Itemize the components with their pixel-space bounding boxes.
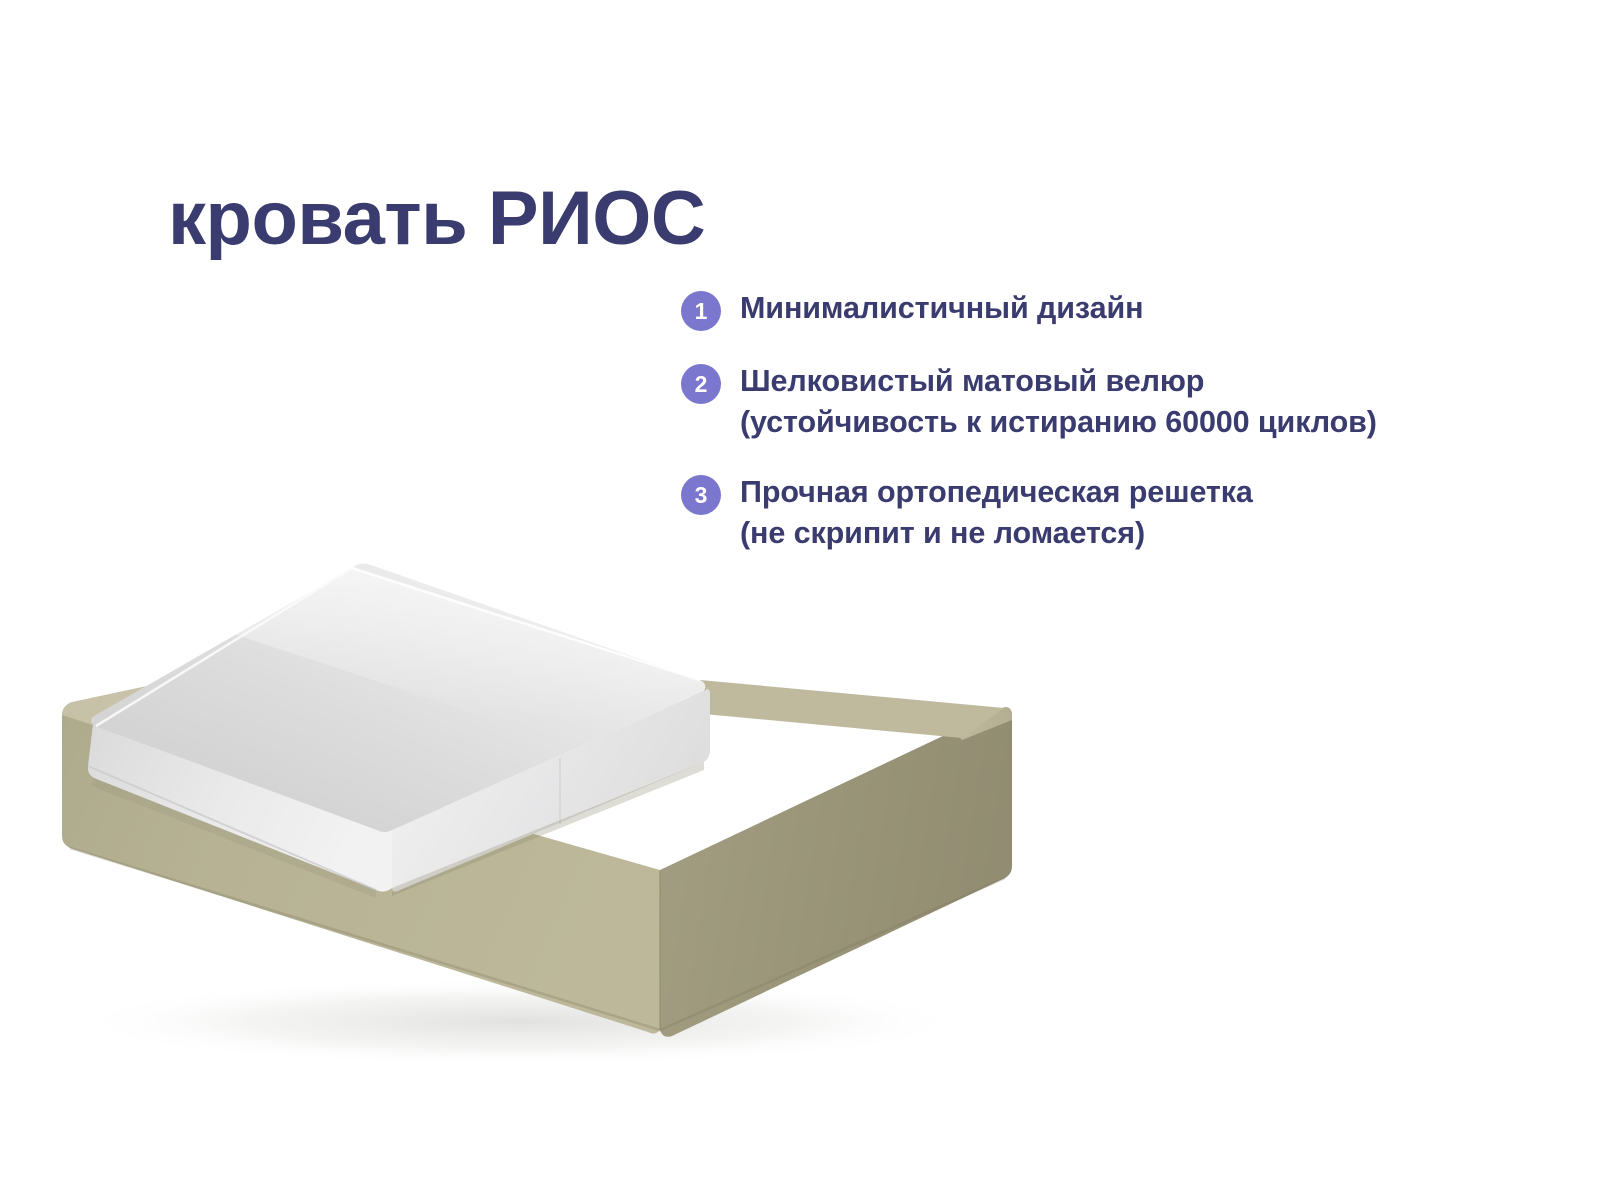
bed-product-image bbox=[0, 530, 1100, 1090]
feature-number-badge-3: 3 bbox=[681, 475, 721, 515]
bed-base-top-rim-back bbox=[682, 680, 1004, 738]
feature-item-2: 2 Шелковистый матовый велюр (устойчивост… bbox=[681, 361, 1521, 442]
bed-base-right-face bbox=[660, 707, 1012, 1037]
bed-illustration-svg bbox=[0, 530, 1100, 1090]
feature-number-badge-2: 2 bbox=[681, 364, 721, 404]
product-slide: кровать РИОС 1 Минималистичный дизайн 2 … bbox=[0, 0, 1600, 1200]
feature-label-1: Минималистичный дизайн bbox=[740, 288, 1521, 329]
feature-number-badge-1: 1 bbox=[681, 291, 721, 331]
feature-label-2: Шелковистый матовый велюр (устойчивость … bbox=[740, 361, 1521, 442]
feature-item-1: 1 Минималистичный дизайн bbox=[681, 288, 1521, 331]
page-title: кровать РИОС bbox=[168, 181, 705, 257]
